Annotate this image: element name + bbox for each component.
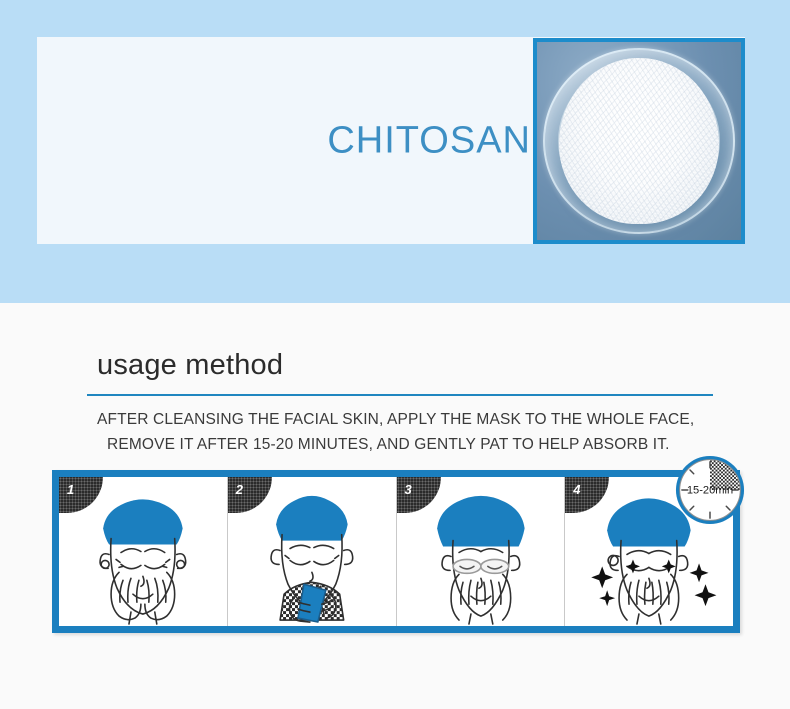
- powder-texture: [559, 58, 718, 224]
- usage-method-section: usage method AFTER CLEANSING THE FACIAL …: [0, 303, 790, 709]
- hero-banner: CHITOSAN: [0, 0, 790, 303]
- timer-badge: 15-20min: [673, 453, 747, 527]
- chitosan-powder-photo: [533, 38, 745, 244]
- page-title: CHITOSAN: [327, 119, 531, 162]
- usage-steps-inner: 1: [59, 477, 733, 626]
- usage-step-2: 2: [228, 477, 397, 626]
- heading-divider: [87, 394, 713, 396]
- usage-step-3: 3: [397, 477, 566, 626]
- usage-text-line-1: AFTER CLEANSING THE FACIAL SKIN, APPLY T…: [97, 411, 694, 429]
- powder-heap: [559, 58, 718, 224]
- usage-step-4: 4: [565, 477, 733, 626]
- usage-step-1: 1: [59, 477, 228, 626]
- usage-text-line-2: REMOVE IT AFTER 15-20 MINUTES, AND GENTL…: [107, 436, 670, 454]
- usage-steps-strip: 1: [52, 470, 740, 633]
- section-heading: usage method: [97, 349, 283, 382]
- timer-label: 15-20min: [687, 485, 733, 497]
